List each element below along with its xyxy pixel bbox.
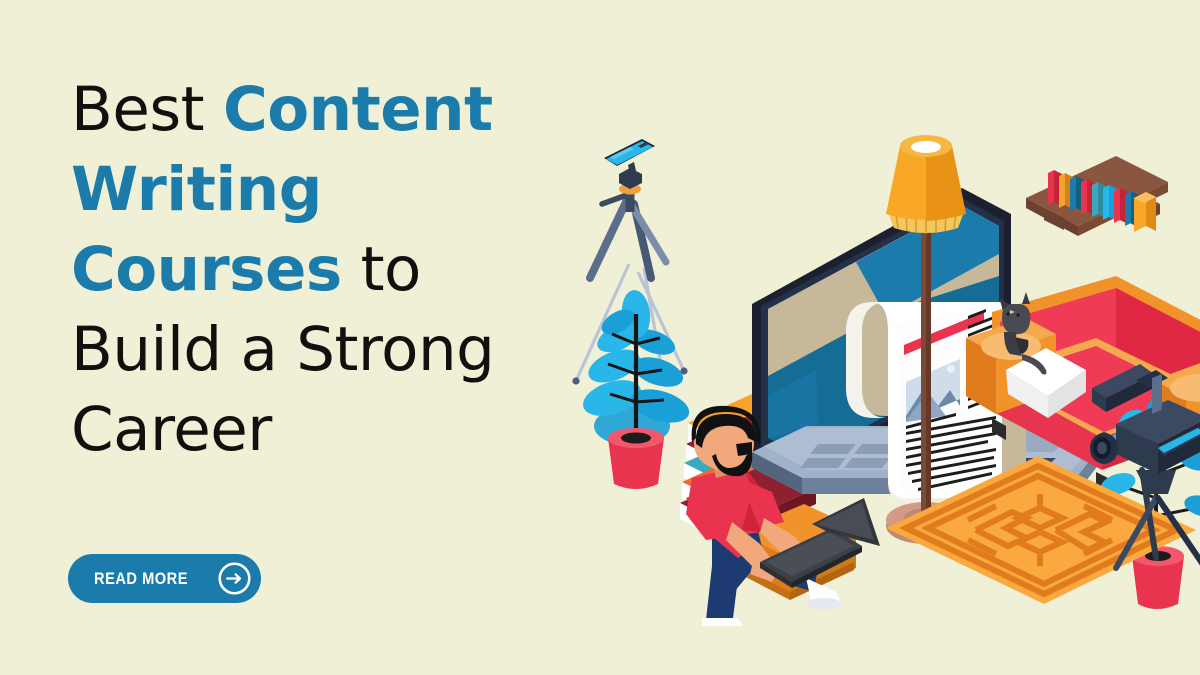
workspace-illustration: [556, 126, 1200, 626]
plant-left-icon: [579, 289, 693, 489]
page-title: Best ContentWritingCourses toBuild a Str…: [71, 70, 571, 470]
read-more-label: READ MORE: [94, 569, 188, 589]
headline-line-build: Build a Strong: [71, 314, 494, 385]
headline-word-best: Best: [71, 74, 223, 145]
read-more-button[interactable]: READ MORE: [68, 554, 261, 603]
headline-block: Best ContentWritingCourses toBuild a Str…: [71, 70, 571, 470]
headline-word-to: to: [342, 234, 421, 305]
headline-word-content: Content: [223, 74, 493, 145]
headline-word-writing: Writing: [71, 154, 322, 225]
headline-line-career: Career: [71, 394, 272, 465]
promo-banner: Best ContentWritingCourses toBuild a Str…: [0, 0, 1200, 675]
wall-bookshelf-icon: [1026, 156, 1168, 236]
arrow-right-circle-icon: [217, 561, 252, 596]
headline-word-courses: Courses: [71, 234, 342, 305]
